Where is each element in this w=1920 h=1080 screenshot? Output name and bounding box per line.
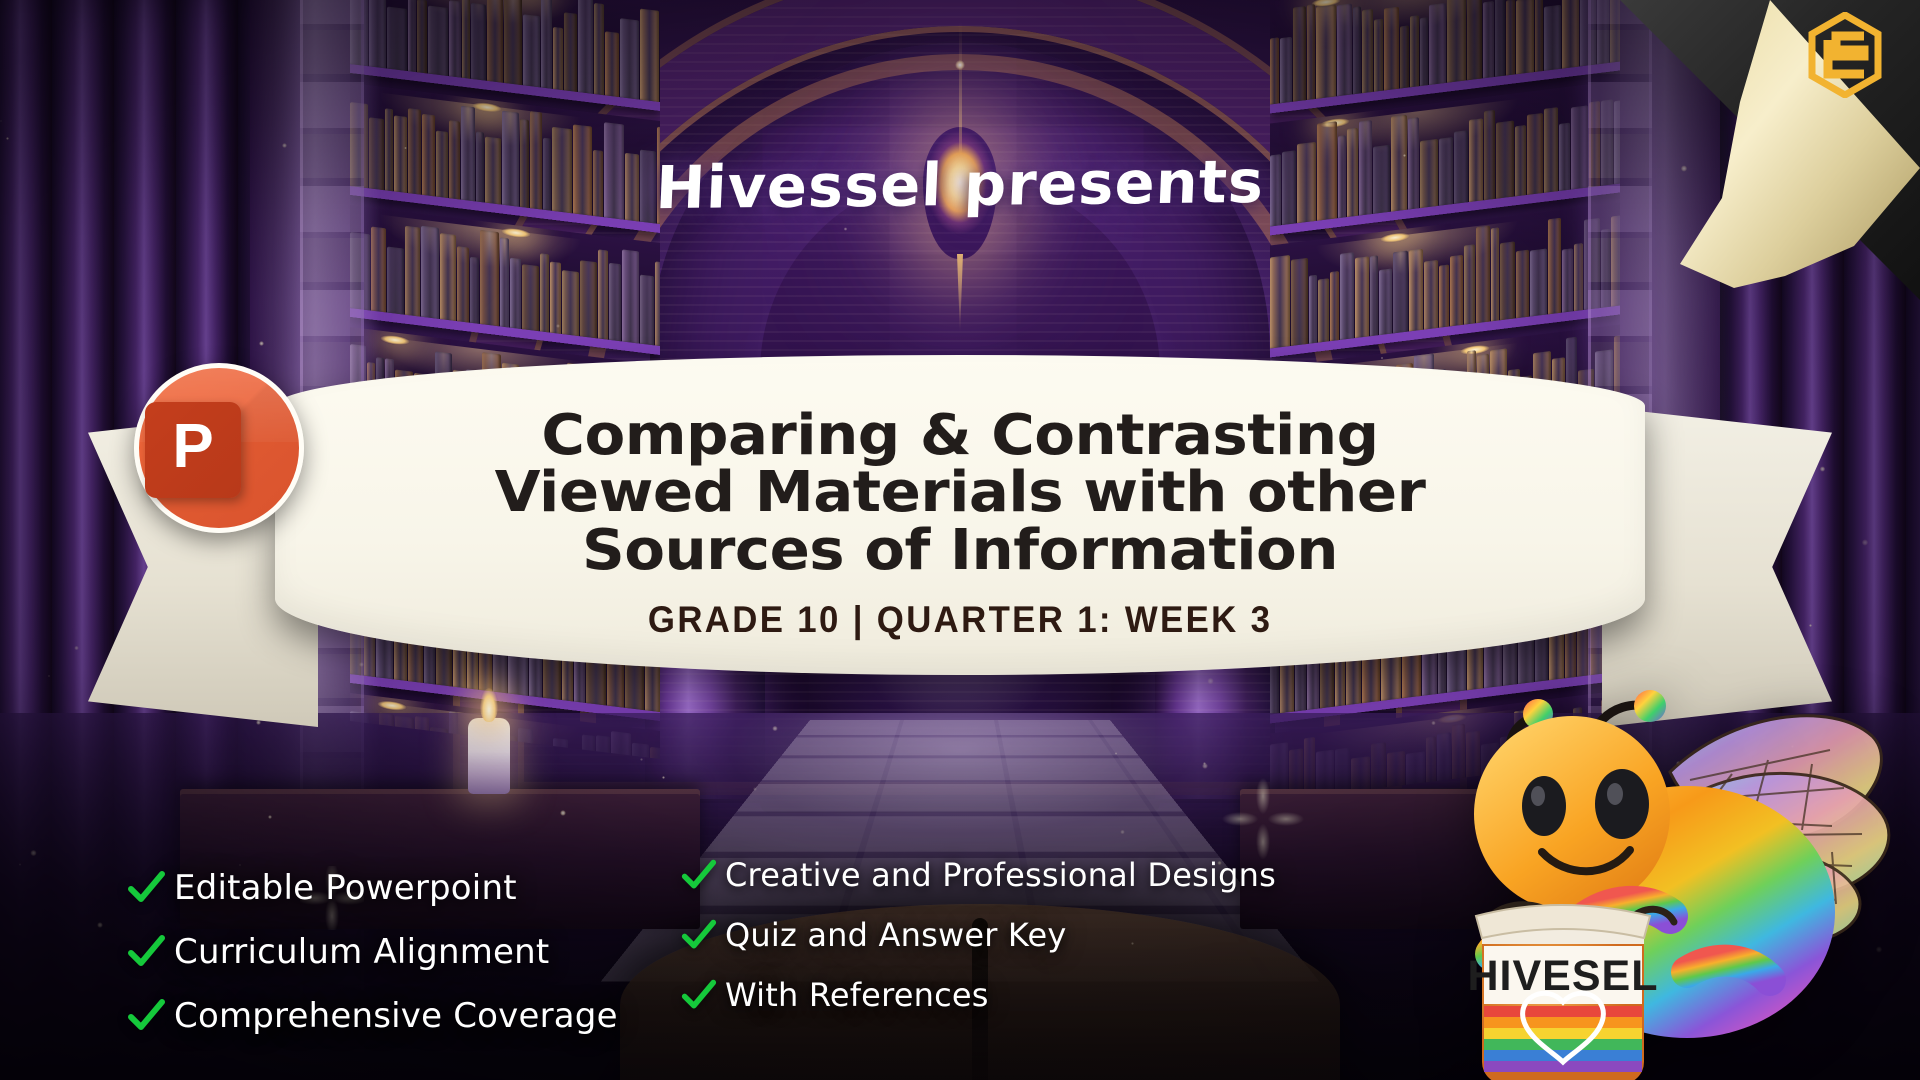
book-spine — [1316, 4, 1336, 98]
honey-jar: HIVESEL — [1468, 905, 1675, 1080]
feature-label: Comprehensive Coverage — [174, 996, 618, 1036]
book-spine — [609, 263, 621, 341]
book-spine — [1280, 37, 1292, 103]
book-spine — [523, 14, 540, 87]
book-spine — [605, 31, 619, 97]
sparkle — [844, 227, 848, 231]
book-spine — [1409, 249, 1423, 332]
list-item: Comprehensive Coverage — [126, 996, 618, 1036]
list-item: With References — [680, 976, 1276, 1014]
book-spine — [580, 260, 597, 338]
title-line-1: Comparing & Contrasting — [495, 407, 1426, 464]
check-icon — [126, 868, 166, 908]
sparkle — [0, 120, 2, 122]
feature-column-left: Editable Powerpoint Curriculum Alignment… — [126, 868, 618, 1036]
book-spine — [1374, 19, 1383, 92]
book-spine — [405, 226, 420, 317]
book-spine — [550, 262, 561, 334]
book-spine — [1516, 0, 1534, 74]
book-spine — [1506, 0, 1515, 76]
book-spine — [449, 0, 461, 77]
book-spine — [541, 0, 552, 89]
check-icon — [126, 932, 166, 972]
book-spine — [421, 226, 439, 319]
list-item: Creative and Professional Designs — [680, 856, 1276, 894]
book-spine — [1562, 0, 1579, 69]
book-spine — [408, 0, 416, 72]
hexagon-s-logo-icon[interactable] — [1806, 12, 1884, 98]
book-spine — [1270, 37, 1279, 104]
book-spine — [598, 249, 608, 339]
book-spine — [622, 249, 639, 343]
check-icon — [680, 917, 717, 954]
book-spine — [1355, 256, 1369, 338]
book-spine — [1291, 258, 1308, 346]
book-spine — [510, 258, 521, 329]
sparkle — [259, 341, 264, 346]
sparkle — [19, 863, 21, 865]
book-spine — [1439, 265, 1449, 328]
book-spine — [1476, 225, 1490, 323]
book-row — [350, 208, 660, 346]
book-spine — [1340, 252, 1354, 340]
book-spine — [487, 0, 503, 83]
check-icon — [680, 857, 717, 894]
book-spine — [594, 3, 604, 95]
book-spine — [1384, 7, 1399, 91]
book-spine — [640, 275, 654, 346]
feature-column-right: Creative and Professional Designs Quiz a… — [680, 856, 1276, 1036]
book-spine — [620, 18, 639, 99]
book-spine — [1330, 271, 1339, 341]
book-spine — [504, 0, 522, 85]
rainbow-bee-mascot: HIVESEL — [1432, 654, 1902, 1080]
book-spine — [1353, 6, 1361, 94]
sparkle — [1120, 830, 1124, 834]
chandelier-spark — [955, 60, 965, 70]
book-spine — [1400, 25, 1409, 88]
book-spine — [1491, 227, 1499, 321]
check-icon — [680, 977, 717, 1014]
book-spine — [1307, 4, 1315, 100]
book-spine — [1467, 0, 1482, 80]
bee-eye-left — [1522, 776, 1566, 836]
book-spine — [1293, 6, 1306, 102]
book-spine — [500, 237, 509, 327]
feature-label: Creative and Professional Designs — [725, 856, 1276, 894]
title-line-3: Sources of Information — [495, 522, 1426, 579]
book-spine — [1464, 244, 1475, 324]
book-spine — [1535, 0, 1543, 72]
book-spine — [462, 0, 470, 79]
sparkle — [556, 324, 560, 328]
book-spine — [1548, 218, 1561, 315]
book-spine — [1318, 278, 1329, 342]
book-spine — [1424, 260, 1438, 330]
book-spine — [1429, 3, 1446, 85]
book-spine — [562, 270, 579, 336]
sparkle — [30, 850, 37, 857]
book-spine — [480, 230, 499, 326]
book-spine — [457, 246, 469, 322]
list-item: Curriculum Alignment — [126, 932, 618, 972]
jar-label-text: HIVESEL — [1468, 952, 1659, 1000]
book-spine — [522, 264, 539, 331]
powerpoint-icon: P — [134, 363, 304, 533]
book-spine — [578, 0, 593, 94]
book-spine — [655, 261, 660, 346]
book-spine — [1530, 248, 1547, 316]
book-row — [350, 0, 660, 102]
sparkle — [97, 922, 103, 928]
book-spine — [1393, 251, 1408, 334]
book-spine — [1370, 255, 1378, 336]
book-spine — [1362, 9, 1373, 93]
slide-cover: Hivessel presents Comparing & Contrastin… — [0, 0, 1920, 1080]
book-spine — [1337, 3, 1352, 96]
book-spine — [471, 3, 486, 81]
ribbon-banner-center: Comparing & Contrasting Viewed Materials… — [275, 355, 1645, 675]
sparkle — [282, 143, 287, 148]
book-spine — [440, 233, 456, 321]
book-spine — [1500, 241, 1515, 320]
list-item: Quiz and Answer Key — [680, 916, 1276, 954]
check-icon — [126, 996, 166, 1036]
book-spine — [1420, 17, 1428, 86]
book-spine — [387, 7, 407, 71]
antenna-tip-right — [1634, 690, 1666, 722]
book-spine — [564, 12, 577, 92]
book-spine — [428, 6, 448, 76]
book-spine — [640, 9, 659, 102]
book-spine — [1516, 250, 1529, 319]
feature-label: Quiz and Answer Key — [725, 916, 1067, 954]
book-spine — [1562, 248, 1573, 312]
book-spine — [1309, 275, 1317, 344]
powerpoint-tile-letter: P — [145, 402, 241, 498]
book-spine — [1270, 255, 1290, 348]
feature-label: With References — [725, 976, 989, 1014]
book-spine — [387, 247, 404, 315]
feature-label: Curriculum Alignment — [174, 932, 549, 972]
book-spine — [1544, 5, 1561, 71]
grade-quarter-week-subtitle: GRADE 10 | QUARTER 1: WEEK 3 — [648, 599, 1272, 641]
book-spine — [1450, 255, 1463, 327]
book-spine — [1410, 15, 1419, 87]
book-spine — [417, 0, 427, 73]
book-spine — [1483, 1, 1494, 78]
book-spine — [1379, 269, 1392, 336]
book-spine — [1574, 243, 1583, 311]
book-spine — [470, 257, 479, 324]
book-spine — [1447, 0, 1466, 83]
bee-eye-right — [1595, 769, 1649, 839]
title-line-2: Viewed Materials with other — [495, 464, 1426, 521]
book-spine — [553, 27, 563, 90]
feature-label: Editable Powerpoint — [174, 868, 517, 908]
page-title: Comparing & Contrasting Viewed Materials… — [495, 407, 1426, 578]
list-item: Editable Powerpoint — [126, 868, 618, 908]
book-spine — [1495, 0, 1505, 77]
book-spine — [540, 253, 549, 332]
